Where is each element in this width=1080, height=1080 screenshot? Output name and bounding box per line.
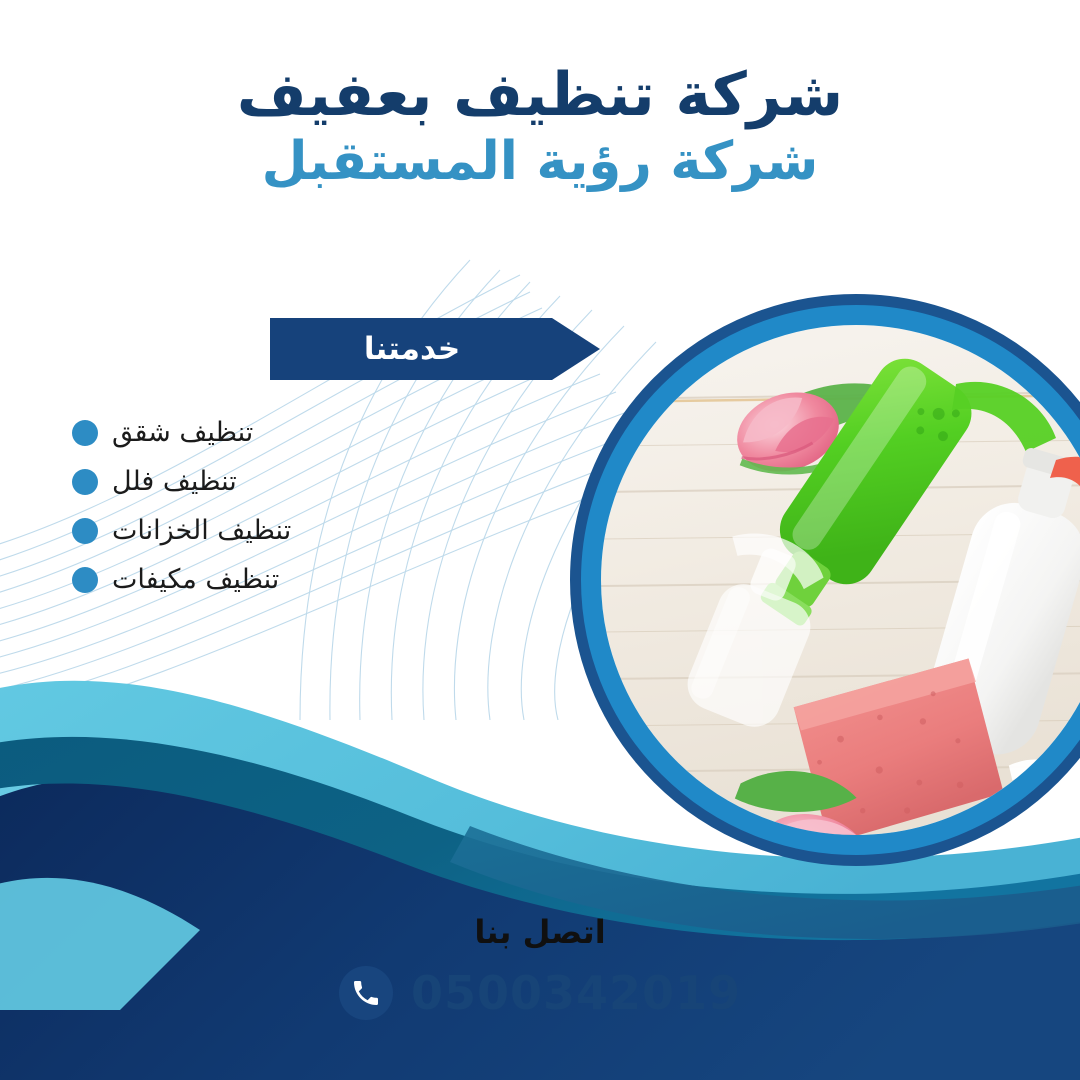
advertisement-poster: شركة تنظيف بعفيف شركة رؤية المستقبل خدمت… [0, 0, 1080, 1080]
phone-number[interactable]: 0500342019 [411, 970, 741, 1016]
bullet-icon [72, 420, 98, 446]
list-item: تنظيف فلل [72, 457, 362, 506]
list-item: تنظيف الخزانات [72, 506, 362, 555]
company-title-line2: شركة رؤية المستقبل [60, 131, 1020, 194]
list-item: تنظيف مكيفات [72, 555, 362, 604]
services-banner: خدمتنا [270, 318, 600, 380]
services-banner-label: خدمتنا [270, 318, 600, 380]
cleaning-products-photo [556, 224, 1080, 964]
contact-block: اتصل بنا 0500342019 [0, 916, 1080, 1020]
phone-handset-icon[interactable] [339, 966, 393, 1020]
call-us-label: اتصل بنا [0, 916, 1080, 948]
headline-block: شركة تنظيف بعفيف شركة رؤية المستقبل [60, 62, 1020, 194]
service-label: تنظيف فلل [112, 468, 237, 495]
bullet-icon [72, 567, 98, 593]
bullet-icon [72, 469, 98, 495]
service-label: تنظيف الخزانات [112, 517, 291, 544]
photo-circle [556, 224, 1080, 964]
bullet-icon [72, 518, 98, 544]
phone-row[interactable]: 0500342019 [0, 966, 1080, 1020]
list-item: تنظيف شقق [72, 408, 362, 457]
service-label: تنظيف مكيفات [112, 566, 279, 593]
service-label: تنظيف شقق [112, 419, 253, 446]
company-title-line1: شركة تنظيف بعفيف [60, 62, 1020, 129]
services-list: تنظيف شقق تنظيف فلل تنظيف الخزانات تنظيف… [72, 408, 362, 604]
